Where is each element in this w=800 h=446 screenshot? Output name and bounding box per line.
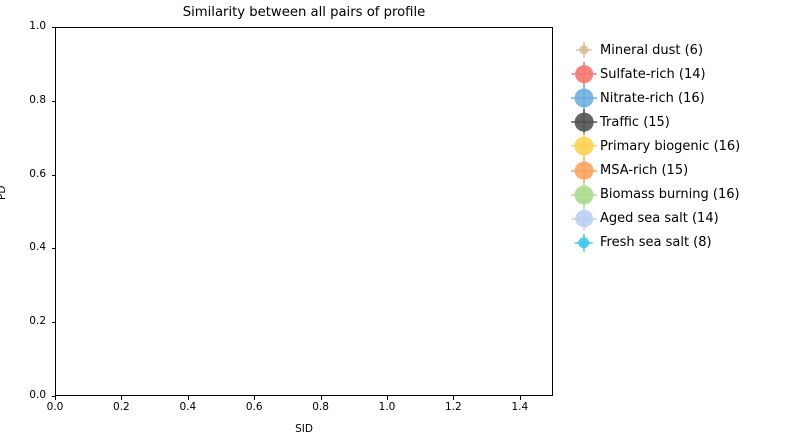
legend-label: Mineral dust (6) bbox=[600, 43, 703, 58]
x-tick-label: 0.0 bbox=[25, 401, 85, 413]
legend-marker-icon bbox=[568, 134, 600, 158]
x-tick-mark bbox=[188, 396, 189, 400]
legend-item-nitrate-rich[interactable]: Nitrate-rich (16) bbox=[568, 86, 798, 110]
legend-label: Fresh sea salt (8) bbox=[600, 235, 712, 250]
axes-frame bbox=[55, 27, 553, 396]
legend-label: Nitrate-rich (16) bbox=[600, 91, 705, 106]
y-tick-label: 0.0 bbox=[0, 389, 46, 401]
legend-label: Aged sea salt (14) bbox=[600, 211, 719, 226]
legend-dot bbox=[575, 113, 594, 132]
legend-dot bbox=[575, 65, 593, 83]
x-tick-mark bbox=[520, 396, 521, 400]
y-axis-label: PD bbox=[0, 186, 8, 200]
legend-item-biomass-burning[interactable]: Biomass burning (16) bbox=[568, 183, 798, 207]
plot-area bbox=[55, 27, 553, 396]
y-tick-label: 0.4 bbox=[0, 241, 46, 253]
legend-dot bbox=[575, 137, 594, 156]
legend-item-sulfate-rich[interactable]: Sulfate-rich (14) bbox=[568, 62, 798, 86]
legend-item-traffic[interactable]: Traffic (15) bbox=[568, 110, 798, 134]
y-tick-mark bbox=[52, 396, 56, 397]
y-tick-mark bbox=[52, 175, 56, 176]
legend-marker-icon bbox=[568, 231, 600, 255]
y-tick-mark bbox=[52, 27, 56, 28]
y-tick-label: 0.2 bbox=[0, 315, 46, 327]
legend-marker-icon bbox=[568, 110, 600, 134]
y-tick-mark bbox=[52, 322, 56, 323]
x-tick-mark bbox=[321, 396, 322, 400]
x-tick-label: 1.0 bbox=[357, 401, 417, 413]
y-tick-mark bbox=[52, 248, 56, 249]
legend-label: Primary biogenic (16) bbox=[600, 139, 740, 154]
x-tick-mark bbox=[254, 396, 255, 400]
legend-label: MSA-rich (15) bbox=[600, 163, 688, 178]
x-tick-label: 0.6 bbox=[224, 401, 284, 413]
x-tick-mark bbox=[55, 396, 56, 400]
legend-dot bbox=[578, 237, 589, 248]
legend-dot bbox=[575, 161, 594, 180]
legend-marker-icon bbox=[568, 86, 600, 110]
x-tick-label: 0.4 bbox=[158, 401, 218, 413]
legend-marker-icon bbox=[568, 62, 600, 86]
legend-item-mineral-dust[interactable]: Mineral dust (6) bbox=[568, 38, 798, 62]
legend-label: Sulfate-rich (14) bbox=[600, 67, 706, 82]
legend-marker-icon bbox=[568, 38, 600, 62]
x-tick-label: 1.2 bbox=[423, 401, 483, 413]
legend-item-fresh-sea-salt[interactable]: Fresh sea salt (8) bbox=[568, 231, 798, 255]
x-tick-label: 1.4 bbox=[490, 401, 550, 413]
y-tick-label: 0.8 bbox=[0, 94, 46, 106]
x-tick-label: 0.8 bbox=[291, 401, 351, 413]
y-tick-mark bbox=[52, 101, 56, 102]
legend-label: Biomass burning (16) bbox=[600, 187, 740, 202]
x-tick-label: 0.2 bbox=[91, 401, 151, 413]
legend-dot bbox=[575, 210, 593, 228]
legend-dot bbox=[575, 89, 594, 108]
legend-item-msa-rich[interactable]: MSA-rich (15) bbox=[568, 158, 798, 182]
x-tick-mark bbox=[121, 396, 122, 400]
y-tick-label: 1.0 bbox=[0, 20, 46, 32]
x-axis-label: SID bbox=[55, 423, 553, 435]
x-tick-mark bbox=[453, 396, 454, 400]
x-tick-mark bbox=[387, 396, 388, 400]
chart-title: Similarity between all pairs of profile bbox=[55, 4, 553, 22]
legend-marker-icon bbox=[568, 183, 600, 207]
legend-dot bbox=[579, 45, 588, 54]
legend-marker-icon bbox=[568, 207, 600, 231]
figure: Similarity between all pairs of profile … bbox=[0, 0, 800, 446]
legend-item-aged-sea-salt[interactable]: Aged sea salt (14) bbox=[568, 207, 798, 231]
legend-marker-icon bbox=[568, 159, 600, 183]
legend-dot bbox=[575, 185, 594, 204]
legend-label: Traffic (15) bbox=[600, 115, 670, 130]
legend-item-primary-biogenic[interactable]: Primary biogenic (16) bbox=[568, 134, 798, 158]
y-tick-label: 0.6 bbox=[0, 168, 46, 180]
legend: Mineral dust (6)Sulfate-rich (14)Nitrate… bbox=[568, 38, 798, 255]
